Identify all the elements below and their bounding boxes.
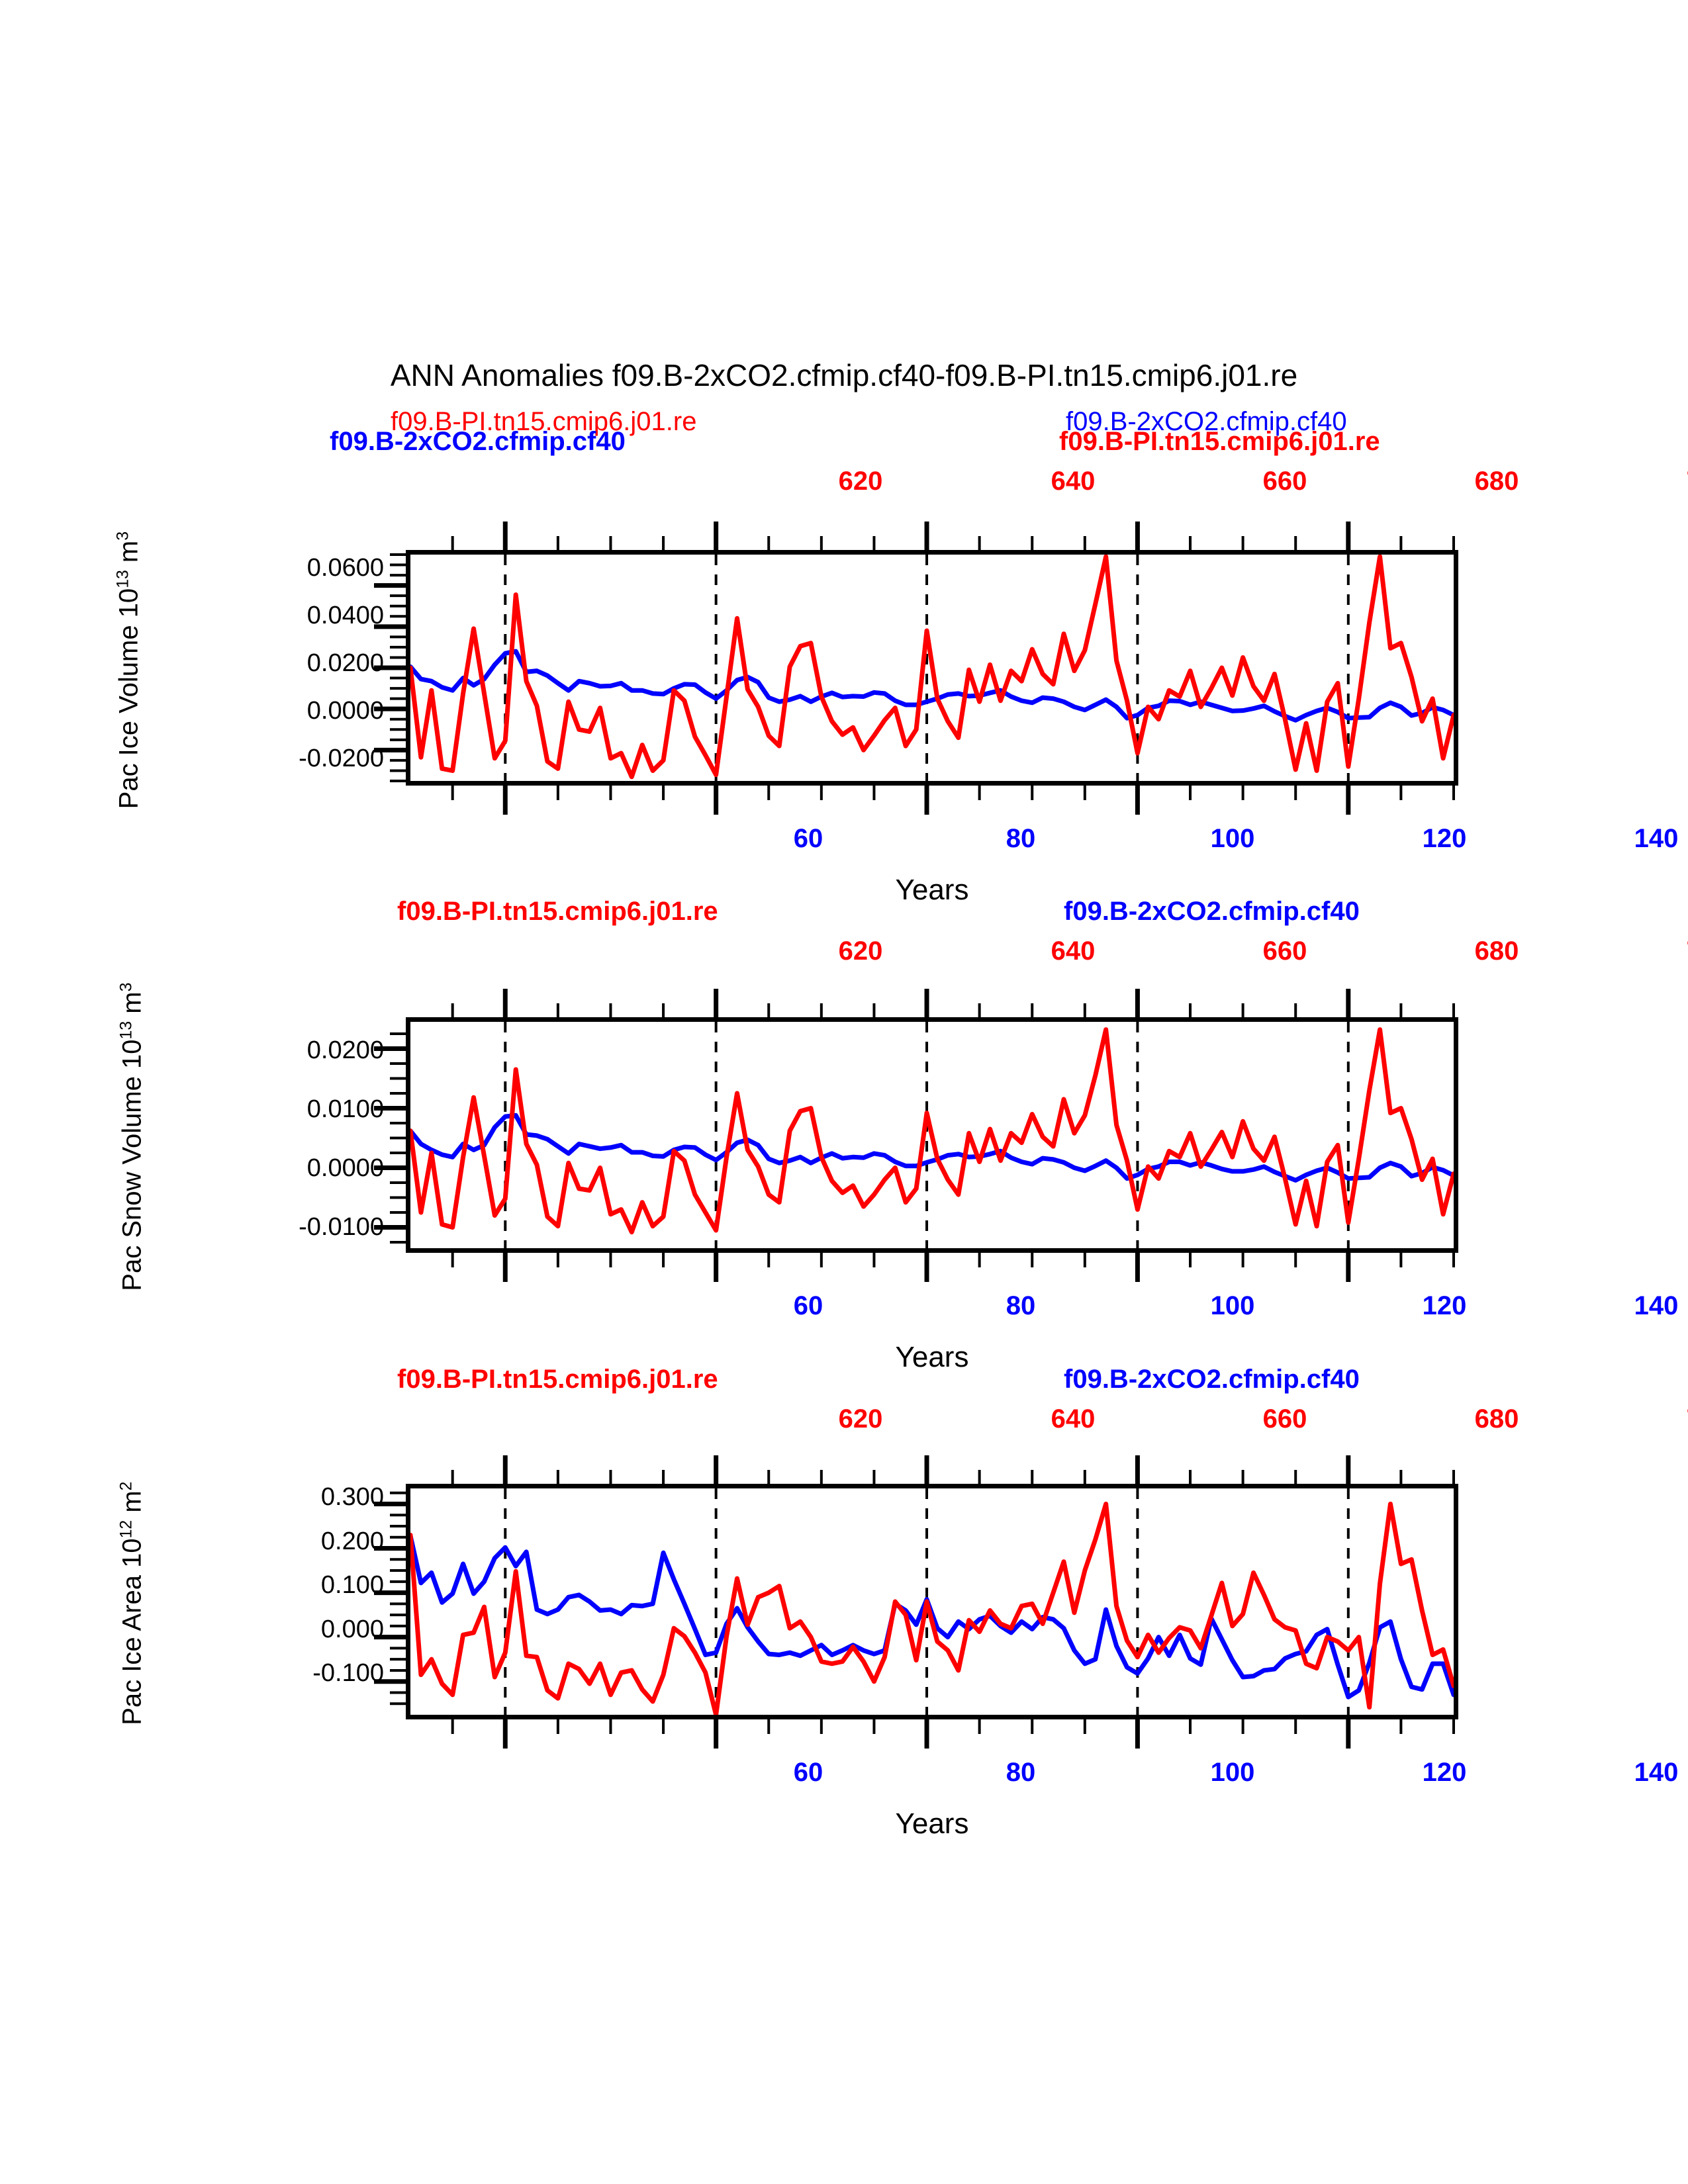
panel3-y-axis-title-main: Pac Ice Area 10: [118, 1538, 147, 1725]
panel1-ytick--0.0200: -0.0200: [199, 745, 384, 773]
panel2-y-axis-title-main: Pac Snow Volume 10: [118, 1039, 147, 1291]
panel1-xtick-bottom-80: 80: [968, 824, 1074, 854]
panel2-xtick-bottom-80: 80: [968, 1291, 1074, 1321]
panel2-ytick-0.0200: 0.0200: [199, 1036, 384, 1065]
panel1-top-ticks: [406, 510, 1458, 551]
panel1-y-axis-title-unit: m: [115, 541, 144, 570]
panel3-top-ticks: [406, 1443, 1458, 1484]
panel3-xtick-bottom-60: 60: [755, 1758, 861, 1788]
panel2-left-ticks: [365, 1017, 406, 1253]
panel3-xtick-top-700: 700: [1656, 1404, 1688, 1434]
panel3-xtick-top-620: 620: [808, 1404, 914, 1434]
panel2-ytick--0.0100: -0.0100: [199, 1213, 384, 1242]
panel2-y-axis-title-unit-exp: 3: [117, 983, 135, 992]
panel1-plot-area: [406, 550, 1458, 786]
panel3-xtick-top-640: 640: [1020, 1404, 1126, 1434]
panel3-legend-blue: f09.B-2xCO2.cfmip.cf40: [1064, 1365, 1360, 1394]
panel2-bottom-ticks: [406, 1253, 1458, 1294]
panel1-x-axis-title: Years: [747, 874, 1117, 907]
panel3-ytick-0.100: 0.100: [199, 1571, 384, 1600]
panel1-series-canvas: [410, 555, 1454, 781]
panel3-y-axis-title: Pac Ice Area 1012 m2: [117, 1405, 147, 1802]
panel3-ytick--0.100: -0.100: [199, 1659, 384, 1688]
panel2-xtick-bottom-140: 140: [1603, 1291, 1688, 1321]
panel2-xtick-bottom-100: 100: [1180, 1291, 1286, 1321]
panel2-y-axis-title: Pac Snow Volume 1013 m3: [117, 905, 147, 1369]
panel2-xtick-top-680: 680: [1444, 936, 1550, 966]
panel1-xtick-top-700: 700: [1656, 467, 1688, 496]
panel1-xtick-bottom-60: 60: [755, 824, 861, 854]
panel3-xtick-top-660: 660: [1232, 1404, 1338, 1434]
figure-title: ANN Anomalies f09.B-2xCO2.cfmip.cf40-f09…: [0, 357, 1688, 393]
figure-page: ANN Anomalies f09.B-2xCO2.cfmip.cf40-f09…: [0, 0, 1688, 2184]
panel2-plot-area: [406, 1017, 1458, 1253]
panel2-y-axis-title-unit: m: [118, 991, 147, 1021]
panel3-ytick-0.300: 0.300: [199, 1483, 384, 1512]
panel3-xtick-bottom-140: 140: [1603, 1758, 1688, 1788]
panel3-legend-red: f09.B-PI.tn15.cmip6.j01.re: [397, 1365, 718, 1394]
panel3-series-canvas: [410, 1488, 1454, 1715]
panel2-xtick-top-660: 660: [1232, 936, 1338, 966]
panel2-xtick-top-620: 620: [808, 936, 914, 966]
panel2-legend-blue: f09.B-2xCO2.cfmip.cf40: [1064, 897, 1360, 927]
panel1-xtick-top-680: 680: [1444, 467, 1550, 496]
panel3-xtick-bottom-100: 100: [1180, 1758, 1286, 1788]
panel3-y-axis-title-exp: 12: [117, 1520, 135, 1539]
panel3-bottom-ticks: [406, 1719, 1458, 1760]
panel1-xtick-bottom-100: 100: [1180, 824, 1286, 854]
panel2-xtick-bottom-120: 120: [1391, 1291, 1497, 1321]
panel1-xtick-bottom-120: 120: [1391, 824, 1497, 854]
panel1-y-axis-title-exp: 13: [114, 570, 132, 588]
panel3-ytick-0.200: 0.200: [199, 1527, 384, 1556]
panel3-plot-area: [406, 1484, 1458, 1719]
panel3-y-axis-title-unit: m: [118, 1490, 147, 1520]
panel1-xtick-top-660: 660: [1232, 467, 1338, 496]
panel2-legend-red: f09.B-PI.tn15.cmip6.j01.re: [397, 897, 718, 927]
panel3-ytick-0.000: 0.000: [199, 1615, 384, 1644]
panel1-y-axis-title-unit-exp: 3: [114, 531, 132, 541]
panel1-xtick-top-620: 620: [808, 467, 914, 496]
panel1-legend-blue: f09.B-2xCO2.cfmip.cf40: [330, 427, 626, 457]
panel2-ytick-0.0000: 0.0000: [199, 1154, 384, 1183]
panel2-xtick-top-700: 700: [1656, 936, 1688, 966]
panel1-xtick-top-640: 640: [1020, 467, 1126, 496]
panel2-xtick-top-640: 640: [1020, 936, 1126, 966]
panel2-top-ticks: [406, 977, 1458, 1018]
panel1-legend-red: f09.B-PI.tn15.cmip6.j01.re: [1059, 427, 1380, 457]
panel3-xtick-bottom-120: 120: [1391, 1758, 1497, 1788]
panel1-xtick-bottom-140: 140: [1603, 824, 1688, 854]
panel1-ytick-0.0600: 0.0600: [199, 554, 384, 582]
panel3-xtick-top-680: 680: [1444, 1404, 1550, 1434]
panel1-ytick-0.0000: 0.0000: [199, 697, 384, 725]
panel2-y-axis-title-exp: 13: [117, 1021, 135, 1040]
panel3-x-axis-title: Years: [747, 1807, 1117, 1841]
panel3-left-ticks: [365, 1484, 406, 1719]
panel2-xtick-bottom-60: 60: [755, 1291, 861, 1321]
panel1-y-axis-title: Pac Ice Volume 1013 m3: [114, 459, 144, 882]
panel1-left-ticks: [365, 550, 406, 786]
panel2-series-canvas: [410, 1022, 1454, 1248]
panel1-bottom-ticks: [406, 786, 1458, 827]
panel3-y-axis-title-unit-exp: 2: [117, 1482, 135, 1491]
panel2-x-axis-title: Years: [747, 1341, 1117, 1374]
panel2-ytick-0.0100: 0.0100: [199, 1095, 384, 1124]
panel1-ytick-0.0400: 0.0400: [199, 602, 384, 630]
panel1-ytick-0.0200: 0.0200: [199, 649, 384, 678]
panel1-y-axis-title-main: Pac Ice Volume 10: [115, 588, 144, 809]
panel3-xtick-bottom-80: 80: [968, 1758, 1074, 1788]
